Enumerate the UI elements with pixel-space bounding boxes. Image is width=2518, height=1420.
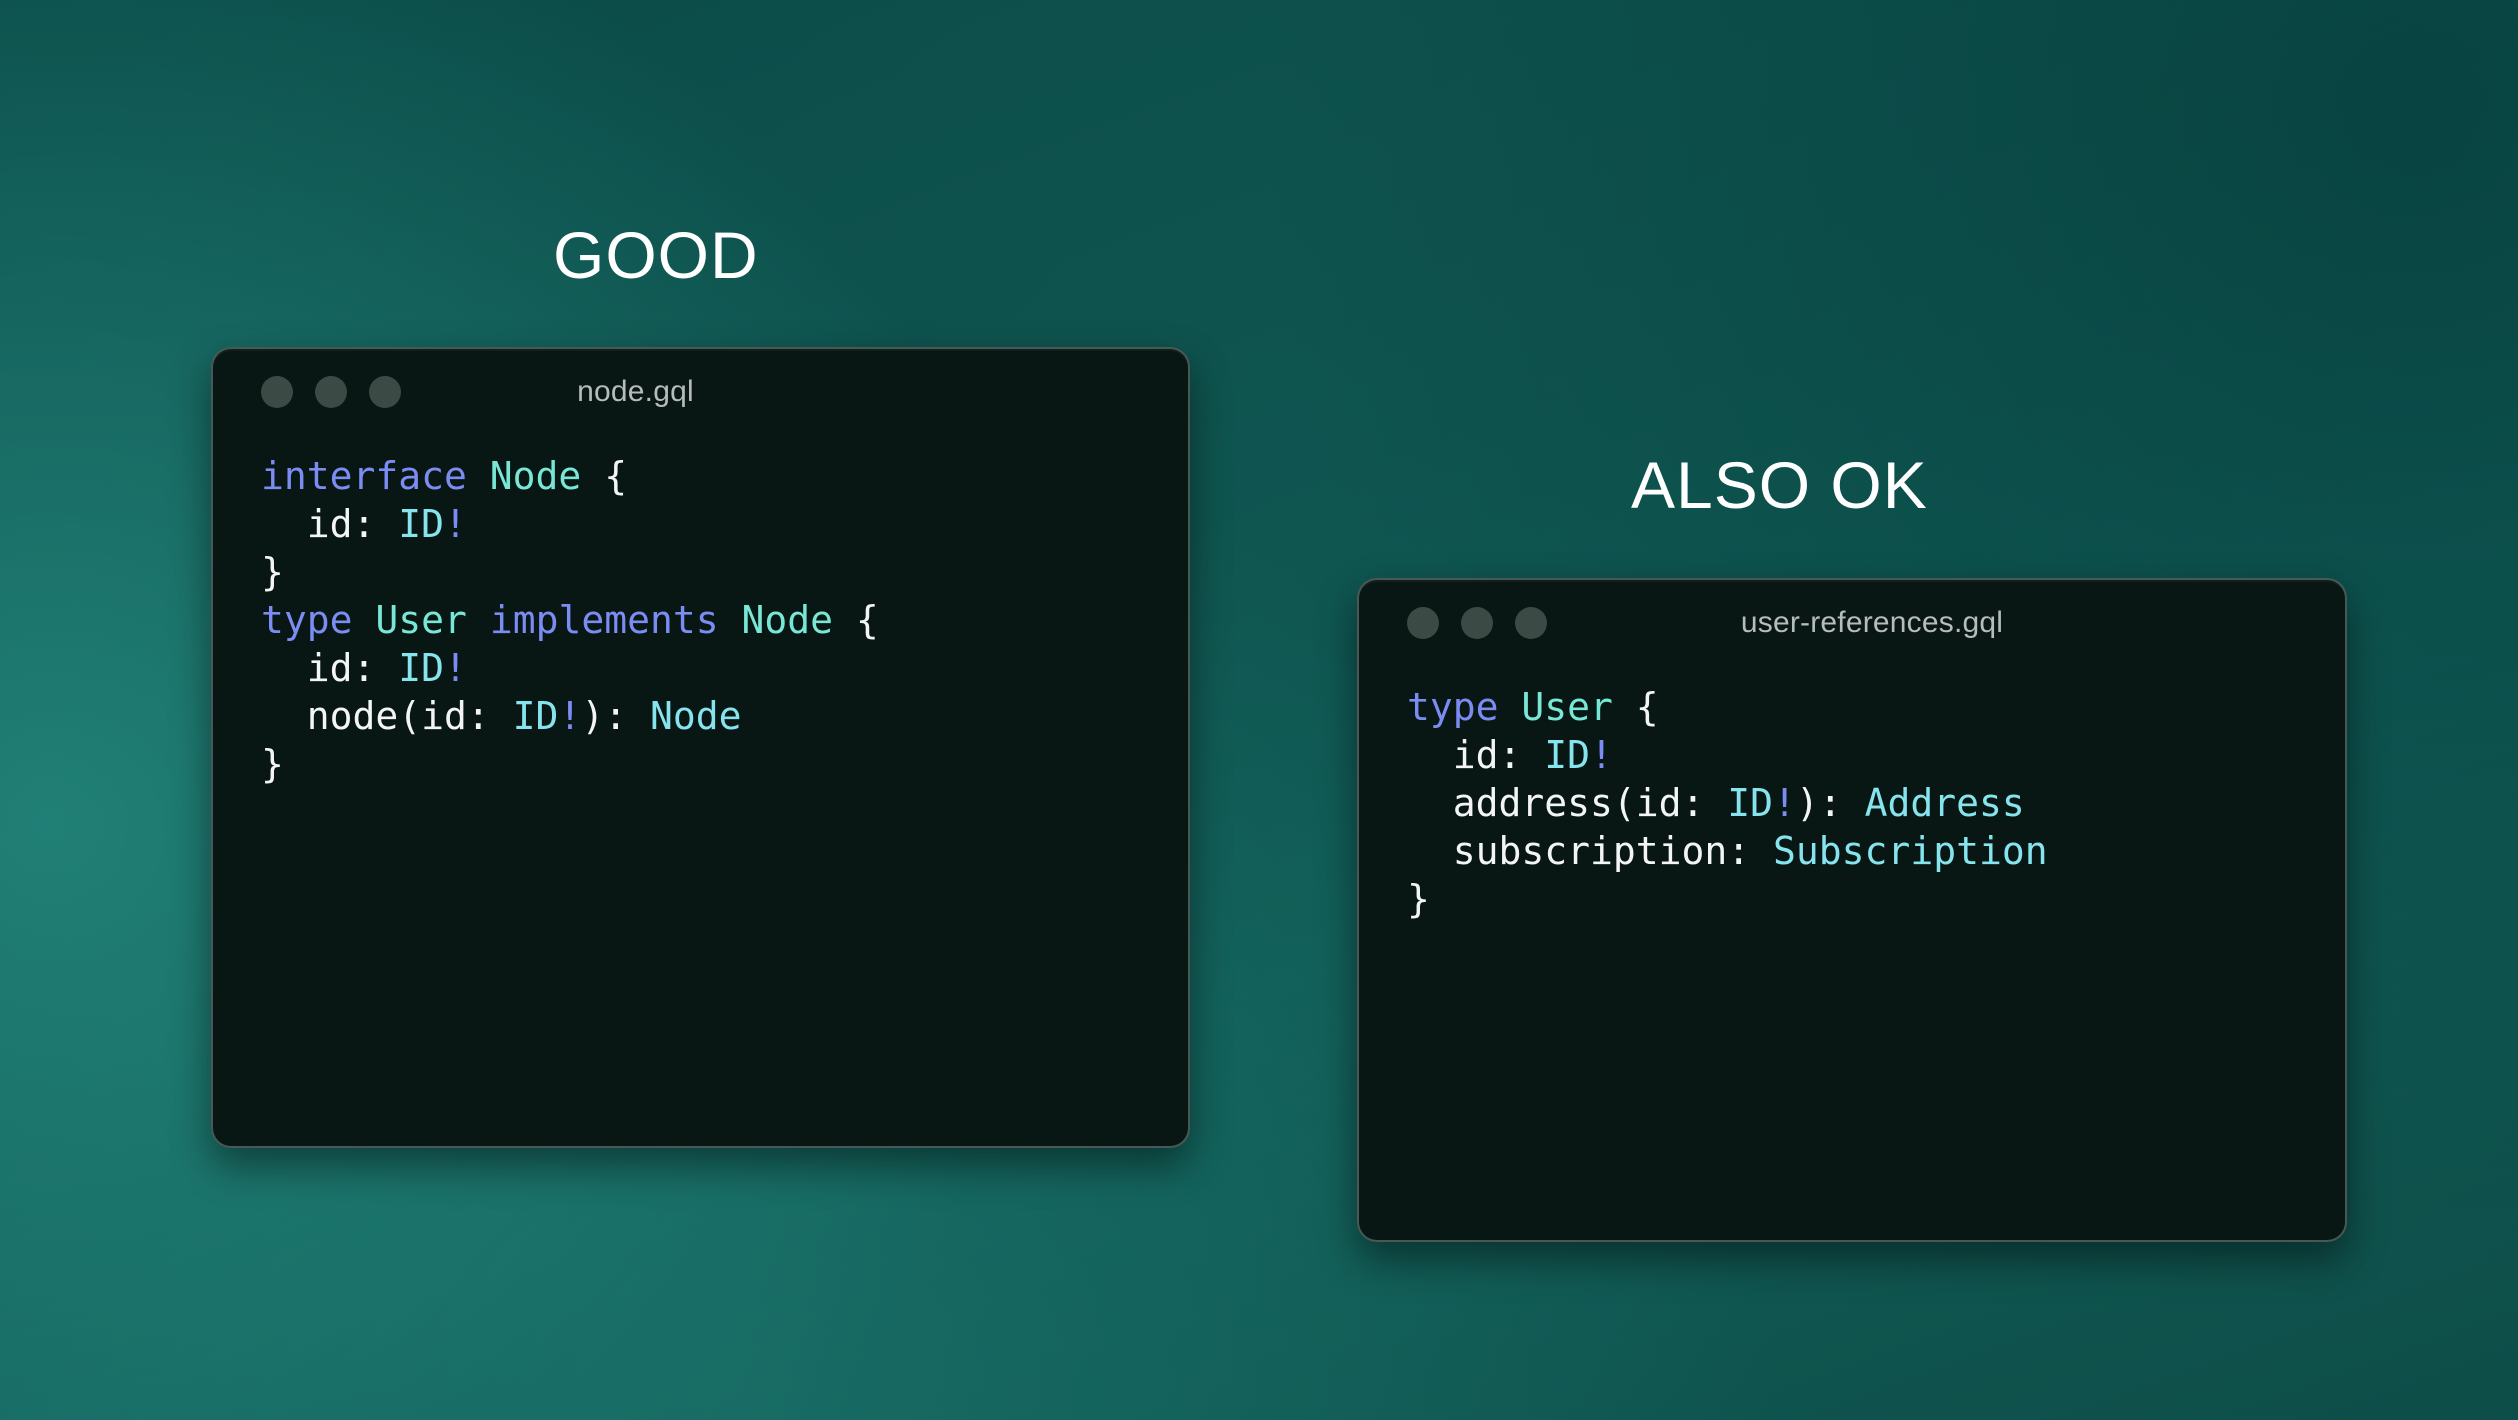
code-token: id: [261, 502, 398, 546]
code-token: User [1521, 685, 1613, 729]
good-example-heading: GOOD [553, 222, 759, 288]
window-filename-label: user-references.gql [1359, 606, 2345, 640]
code-token [719, 598, 742, 642]
code-token: Node [650, 694, 742, 738]
code-token: ): [1796, 781, 1865, 825]
code-token [467, 454, 490, 498]
code-line: id: ID! [261, 501, 1188, 549]
also-ok-example-heading: ALSO OK [1631, 452, 1928, 518]
code-token: Node [490, 454, 582, 498]
code-line: } [1407, 876, 2345, 924]
code-token: { [1613, 685, 1659, 729]
code-line: subscription: Subscription [1407, 828, 2345, 876]
code-line: type User { [1407, 684, 2345, 732]
code-block[interactable]: interface Node { id: ID!}type User imple… [213, 435, 1188, 789]
code-token: type [261, 598, 353, 642]
code-token: ! [1590, 733, 1613, 777]
code-token: Node [741, 598, 833, 642]
code-token: ! [558, 694, 581, 738]
code-token: id: [1407, 733, 1544, 777]
code-token: node(id: [261, 694, 513, 738]
code-token [467, 598, 490, 642]
code-block[interactable]: type User { id: ID! address(id: ID!): Ad… [1359, 666, 2345, 924]
code-line: address(id: ID!): Address [1407, 780, 2345, 828]
code-token: Subscription [1773, 829, 2048, 873]
code-line: } [261, 741, 1188, 789]
code-token: ID [398, 502, 444, 546]
code-token [1499, 685, 1522, 729]
code-token: implements [490, 598, 719, 642]
code-token: type [1407, 685, 1499, 729]
code-token: } [1407, 877, 1430, 921]
code-token: ! [444, 502, 467, 546]
code-token: ID [398, 646, 444, 690]
code-token: ID [1544, 733, 1590, 777]
code-token: id: [261, 646, 398, 690]
code-token: address(id: [1407, 781, 1727, 825]
window-titlebar[interactable]: user-references.gql [1359, 580, 2345, 666]
code-token: ! [1773, 781, 1796, 825]
code-token [353, 598, 376, 642]
code-line: id: ID! [261, 645, 1188, 693]
slide-canvas: GOOD ALSO OK node.gql interface Node { i… [0, 0, 2518, 1420]
code-token: Address [1865, 781, 2025, 825]
code-token: ! [444, 646, 467, 690]
code-window-good[interactable]: node.gql interface Node { id: ID!}type U… [211, 347, 1190, 1148]
code-token: } [261, 742, 284, 786]
code-token: ): [581, 694, 650, 738]
code-line: interface Node { [261, 453, 1188, 501]
code-line: node(id: ID!): Node [261, 693, 1188, 741]
code-token: subscription: [1407, 829, 1773, 873]
code-token: } [261, 550, 284, 594]
code-line: } [261, 549, 1188, 597]
code-token: ID [1727, 781, 1773, 825]
code-line: id: ID! [1407, 732, 2345, 780]
code-line: type User implements Node { [261, 597, 1188, 645]
code-token: { [833, 598, 879, 642]
code-window-also-ok[interactable]: user-references.gql type User { id: ID! … [1357, 578, 2347, 1242]
code-token: User [375, 598, 467, 642]
code-token: ID [513, 694, 559, 738]
code-token: { [581, 454, 627, 498]
code-token: interface [261, 454, 467, 498]
window-titlebar[interactable]: node.gql [213, 349, 1188, 435]
window-filename-label: node.gql [213, 375, 1188, 409]
